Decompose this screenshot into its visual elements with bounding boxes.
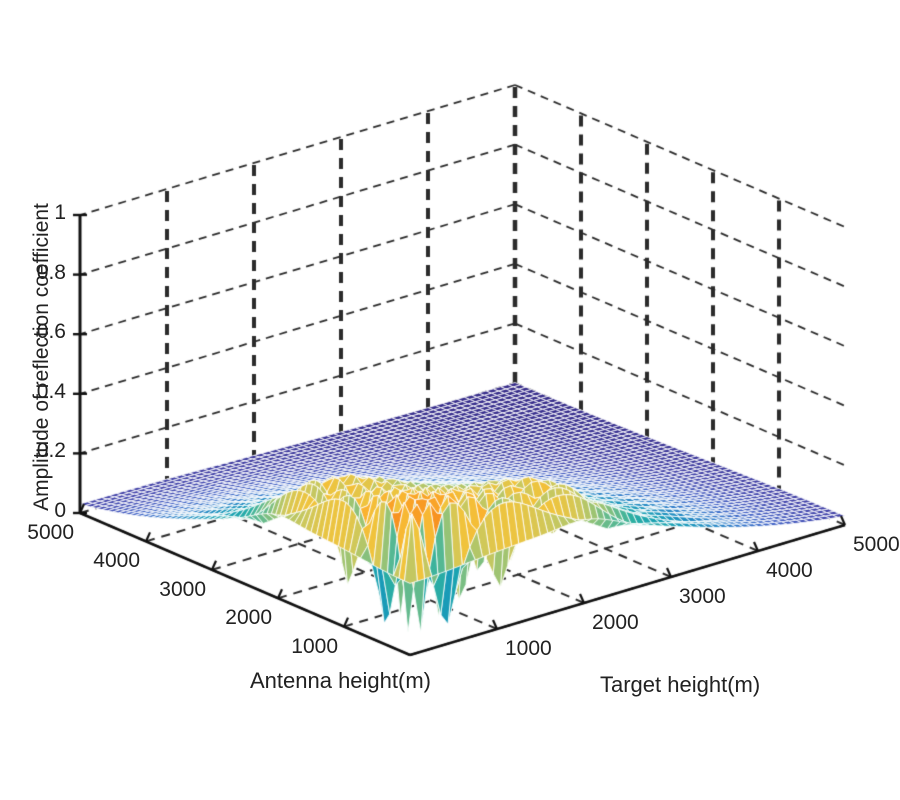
surface-plot-canvas — [0, 0, 900, 800]
x-tick-3000: 3000 — [159, 578, 206, 602]
y-tick-2000: 2000 — [592, 611, 639, 635]
y-axis-title: Target height(m) — [600, 672, 760, 698]
surface-plot-figure: Amplitude of reflection coefficient Ante… — [0, 0, 900, 800]
y-tick-4000: 4000 — [766, 559, 813, 583]
x-axis-title: Antenna height(m) — [250, 668, 431, 694]
x-tick-5000: 5000 — [27, 521, 74, 545]
x-tick-1000: 1000 — [291, 635, 338, 659]
z-tick-1: 1 — [54, 201, 66, 225]
x-tick-2000: 2000 — [225, 606, 272, 630]
z-tick-0.4: 0.4 — [37, 380, 66, 404]
z-axis-title: Amplitude of reflection coefficient — [30, 197, 54, 517]
y-tick-1000: 1000 — [505, 637, 552, 661]
z-tick-0.8: 0.8 — [37, 261, 66, 285]
z-tick-0.2: 0.2 — [37, 439, 66, 463]
y-tick-3000: 3000 — [679, 585, 726, 609]
y-tick-5000: 5000 — [853, 533, 900, 557]
z-tick-0: 0 — [54, 499, 66, 523]
x-tick-4000: 4000 — [93, 549, 140, 573]
z-tick-0.6: 0.6 — [37, 320, 66, 344]
